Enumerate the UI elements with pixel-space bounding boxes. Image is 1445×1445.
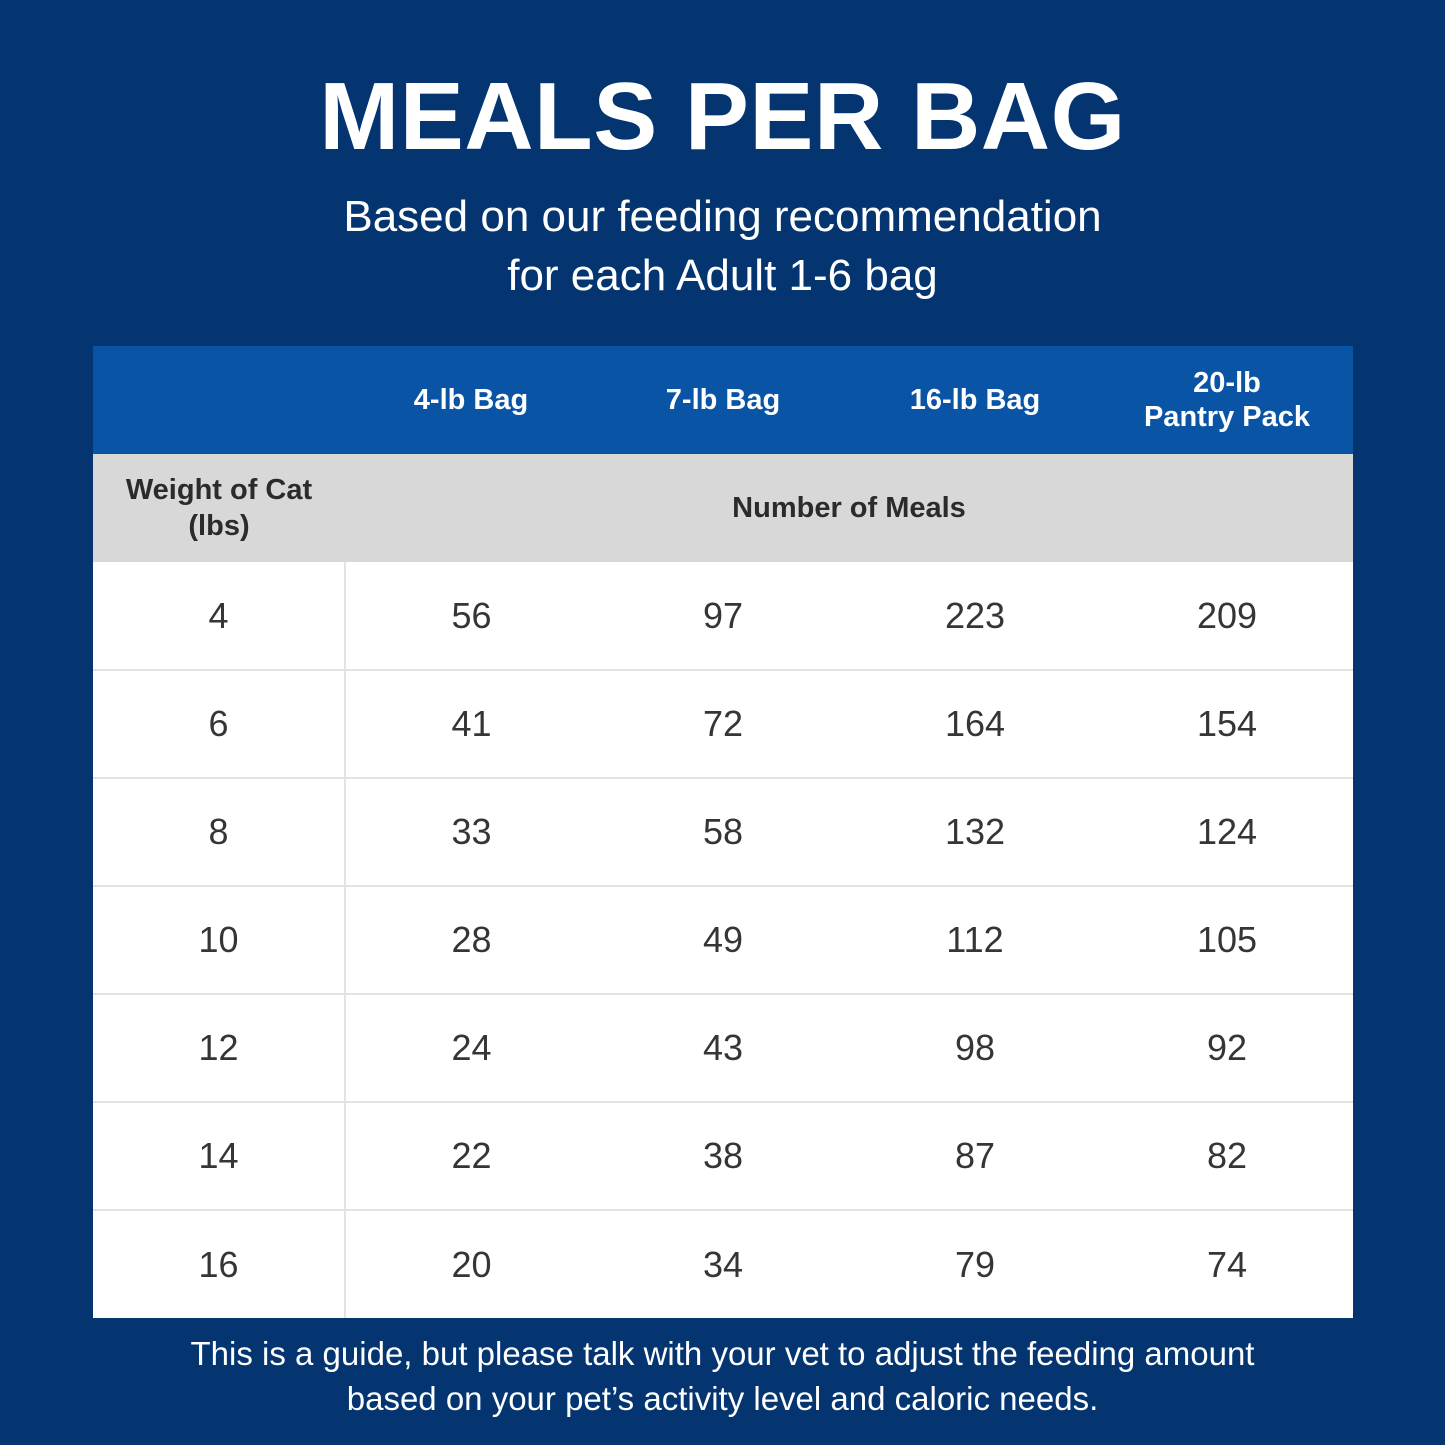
table-header-row-bag-sizes: 4-lb Bag 7-lb Bag 16-lb Bag 20-lb Pantry… (93, 346, 1353, 454)
header-20lb-line-1: 20-lb (1107, 366, 1347, 400)
cell-weight: 12 (93, 994, 345, 1102)
cell-weight: 14 (93, 1102, 345, 1210)
cell-7lb: 97 (597, 562, 849, 670)
page-title: MEALS PER BAG (0, 68, 1445, 166)
cell-16lb: 98 (849, 994, 1101, 1102)
subheader-cell-number-of-meals: Number of Meals (345, 454, 1353, 562)
table-subheader-row: Weight of Cat (lbs) Number of Meals (93, 454, 1353, 562)
footer-line-1: This is a guide, but please talk with yo… (90, 1332, 1355, 1377)
cell-4lb: 28 (345, 886, 597, 994)
header-cell-blank (93, 346, 345, 454)
cell-weight: 8 (93, 778, 345, 886)
cell-7lb: 72 (597, 670, 849, 778)
cell-20lb: 209 (1101, 562, 1353, 670)
cell-20lb: 105 (1101, 886, 1353, 994)
footer-disclaimer: This is a guide, but please talk with yo… (0, 1332, 1445, 1421)
table-body: 4 56 97 223 209 6 41 72 164 154 8 33 58 (93, 562, 1353, 1318)
subtitle-line-2: for each Adult 1-6 bag (0, 247, 1445, 306)
table-row: 10 28 49 112 105 (93, 886, 1353, 994)
cell-weight: 6 (93, 670, 345, 778)
cell-weight: 4 (93, 562, 345, 670)
cell-20lb: 82 (1101, 1102, 1353, 1210)
cell-20lb: 154 (1101, 670, 1353, 778)
table-row: 8 33 58 132 124 (93, 778, 1353, 886)
header-cell-4lb-bag: 4-lb Bag (345, 346, 597, 454)
cell-4lb: 41 (345, 670, 597, 778)
cell-20lb: 74 (1101, 1210, 1353, 1318)
header-cell-20lb-pantry-pack: 20-lb Pantry Pack (1101, 346, 1353, 454)
meals-per-bag-infographic: MEALS PER BAG Based on our feeding recom… (0, 0, 1445, 1445)
cell-16lb: 79 (849, 1210, 1101, 1318)
header-cell-7lb-bag: 7-lb Bag (597, 346, 849, 454)
table-row: 14 22 38 87 82 (93, 1102, 1353, 1210)
cell-weight: 10 (93, 886, 345, 994)
table-head: 4-lb Bag 7-lb Bag 16-lb Bag 20-lb Pantry… (93, 346, 1353, 562)
cell-weight: 16 (93, 1210, 345, 1318)
cell-16lb: 223 (849, 562, 1101, 670)
cell-7lb: 34 (597, 1210, 849, 1318)
table-row: 4 56 97 223 209 (93, 562, 1353, 670)
header-20lb-line-2: Pantry Pack (1107, 400, 1347, 434)
cell-20lb: 124 (1101, 778, 1353, 886)
cell-7lb: 43 (597, 994, 849, 1102)
table-row: 16 20 34 79 74 (93, 1210, 1353, 1318)
cell-7lb: 49 (597, 886, 849, 994)
cell-4lb: 33 (345, 778, 597, 886)
cell-16lb: 164 (849, 670, 1101, 778)
cell-16lb: 132 (849, 778, 1101, 886)
cell-7lb: 58 (597, 778, 849, 886)
header-cell-16lb-bag: 16-lb Bag (849, 346, 1101, 454)
cell-7lb: 38 (597, 1102, 849, 1210)
cell-4lb: 22 (345, 1102, 597, 1210)
weight-label-line-1: Weight of Cat (99, 472, 339, 508)
subtitle-line-1: Based on our feeding recommendation (0, 188, 1445, 247)
meals-per-bag-table: 4-lb Bag 7-lb Bag 16-lb Bag 20-lb Pantry… (93, 346, 1353, 1318)
subheader-cell-weight-of-cat: Weight of Cat (lbs) (93, 454, 345, 562)
cell-4lb: 56 (345, 562, 597, 670)
header-block: MEALS PER BAG Based on our feeding recom… (0, 0, 1445, 306)
table-row: 12 24 43 98 92 (93, 994, 1353, 1102)
meals-table-container: 4-lb Bag 7-lb Bag 16-lb Bag 20-lb Pantry… (93, 346, 1353, 1318)
footer-line-2: based on your pet’s activity level and c… (90, 1377, 1355, 1422)
table-row: 6 41 72 164 154 (93, 670, 1353, 778)
page-subtitle: Based on our feeding recommendation for … (0, 188, 1445, 306)
cell-20lb: 92 (1101, 994, 1353, 1102)
cell-16lb: 112 (849, 886, 1101, 994)
weight-label-line-2: (lbs) (99, 508, 339, 544)
cell-16lb: 87 (849, 1102, 1101, 1210)
cell-4lb: 20 (345, 1210, 597, 1318)
cell-4lb: 24 (345, 994, 597, 1102)
